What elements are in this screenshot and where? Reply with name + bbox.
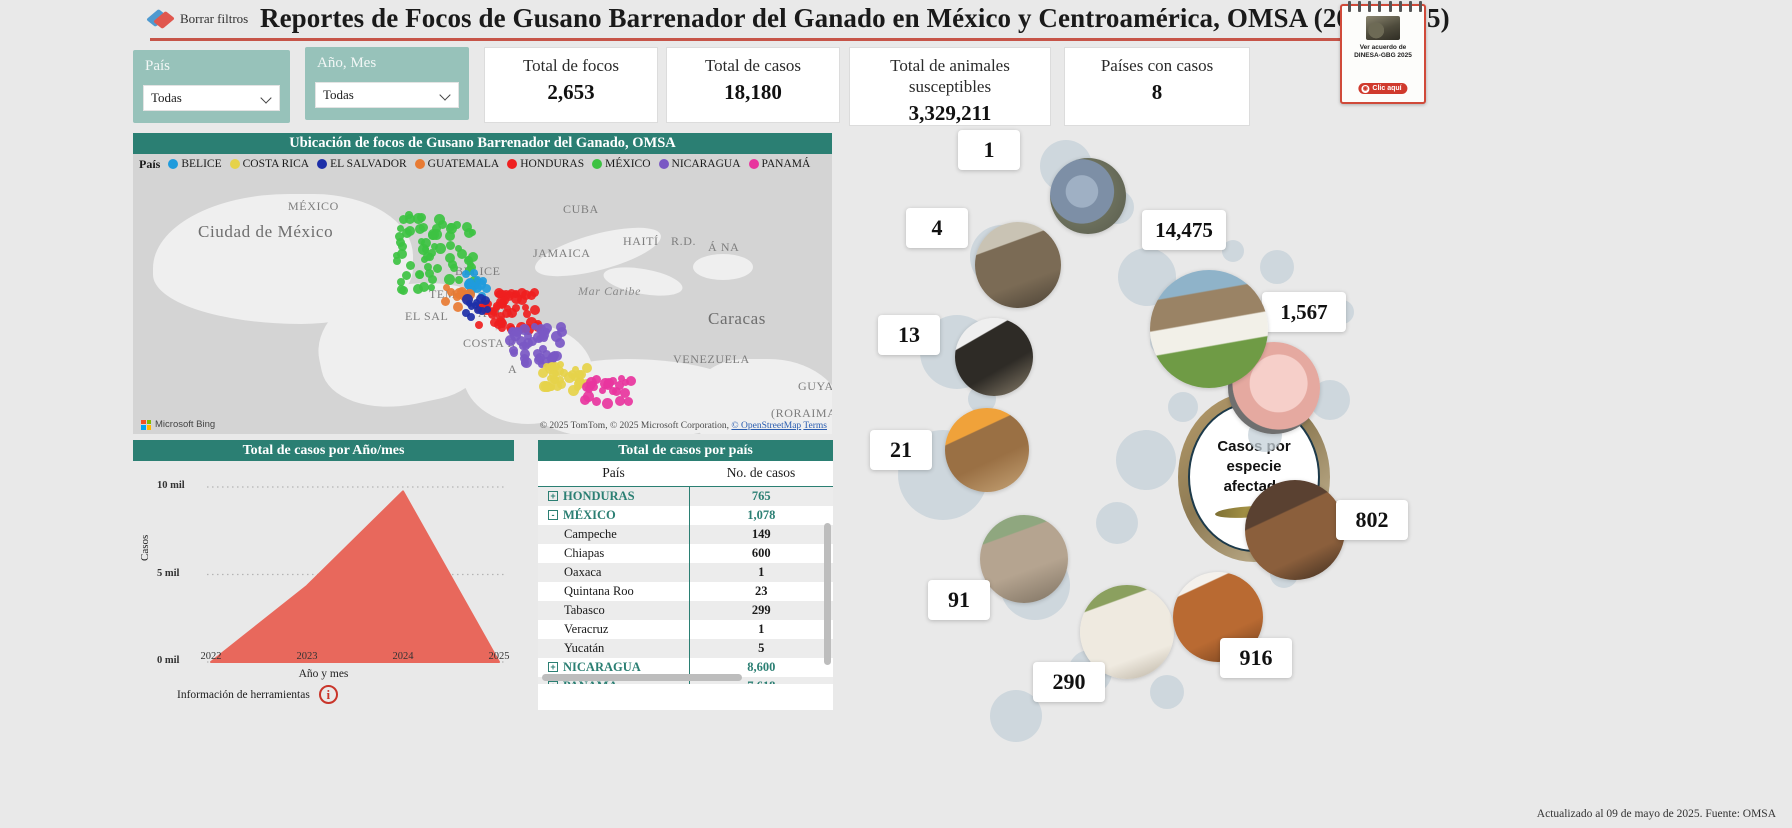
decorative-bubble <box>1150 675 1184 709</box>
map-place-label: MÉXICO <box>288 199 339 214</box>
chart-x-tick-label: 2024 <box>393 651 414 662</box>
legend-color-dot <box>230 159 240 169</box>
speaker-icon: ◉ <box>1361 85 1369 93</box>
row-expander-icon[interactable]: + <box>548 681 558 684</box>
table-row[interactable]: Veracruz1 <box>538 620 833 639</box>
openstreetmap-link[interactable]: © OpenStreetMap <box>731 421 801 431</box>
map-legend-item-honduras[interactable]: HONDURAS <box>507 158 584 170</box>
kpi-card-total-casos: Total de casos 18,180 <box>666 47 840 123</box>
species-value-callout[interactable]: 916 <box>1220 638 1292 678</box>
map-legend-title: País <box>139 157 160 172</box>
map-outbreak-point[interactable] <box>441 297 450 306</box>
species-photo-goat[interactable] <box>980 515 1068 603</box>
kpi-card-total-focos: Total de focos 2,653 <box>484 47 658 123</box>
legend-color-dot <box>659 159 669 169</box>
map-outbreak-point[interactable] <box>423 252 432 261</box>
cases-by-country-table: País No. de casos +HONDURAS765-MÉXICO1,0… <box>538 461 833 684</box>
kpi-value: 3,329,211 <box>850 101 1050 126</box>
map-place-label: Mar Caribe <box>578 284 641 299</box>
map-attribution: © 2025 TomTom, © 2025 Microsoft Corporat… <box>540 421 827 431</box>
chart-x-tick-label: 2025 <box>489 651 510 662</box>
legend-label: GUATEMALA <box>428 158 500 170</box>
map-legend: País BELICECOSTA RICAEL SALVADORGUATEMAL… <box>133 154 832 174</box>
species-value-callout[interactable]: 1,567 <box>1262 292 1346 332</box>
bing-logo-label: Microsoft Bing <box>155 419 215 430</box>
kpi-value: 2,653 <box>485 80 657 105</box>
legend-color-dot <box>317 159 327 169</box>
chart-x-tick-label: 2023 <box>297 651 318 662</box>
clear-filters-label: Borrar filtros <box>180 11 248 27</box>
decorative-bubble <box>1168 392 1198 422</box>
species-value-callout[interactable]: 14,475 <box>1142 210 1226 250</box>
title-divider <box>150 38 1415 41</box>
column-header-casos: No. de casos <box>689 461 833 487</box>
map-place-label: A <box>508 362 517 377</box>
table-cell-pais: Tabasco <box>538 601 689 620</box>
filter-card-pais: País Todas <box>133 50 290 123</box>
map-outbreak-point[interactable] <box>446 241 455 250</box>
map-outbreak-point[interactable] <box>530 305 540 315</box>
table-vertical-scrollbar[interactable] <box>824 523 831 665</box>
landmass-shape <box>693 254 753 280</box>
species-value-callout[interactable]: 21 <box>870 430 932 470</box>
map-outbreak-point[interactable] <box>512 304 520 312</box>
table-horizontal-scrollbar[interactable] <box>542 674 742 681</box>
terms-link[interactable]: Terms <box>803 421 827 431</box>
legend-label: MÉXICO <box>605 158 650 170</box>
table-cell-pais: Oaxaca <box>538 563 689 582</box>
map-place-label: GUYAN <box>798 379 832 394</box>
map-place-label: Á NA <box>708 240 739 255</box>
legend-color-dot <box>507 159 517 169</box>
table-cell-pais: Yucatán <box>538 639 689 658</box>
legend-label: COSTA RICA <box>243 158 310 170</box>
map-legend-item-el-salvador[interactable]: EL SALVADOR <box>317 158 407 170</box>
map-place-label: CUBA <box>563 202 599 217</box>
legend-color-dot <box>592 159 602 169</box>
table-row[interactable]: Quintana Roo23 <box>538 582 833 601</box>
species-radial-visual: Casos por especie afectada 1413219129091… <box>850 130 1780 820</box>
legend-label: EL SALVADOR <box>330 158 407 170</box>
map-outbreak-point[interactable] <box>406 261 415 270</box>
chart-y-tick-label: 5 mil <box>157 568 514 579</box>
footer-note: Actualizado al 09 de mayo de 2025. Fuent… <box>1537 808 1776 820</box>
table-row[interactable]: Chiapas600 <box>538 544 833 563</box>
map-legend-item-panamá[interactable]: PANAMÁ <box>749 158 811 170</box>
table-scroll-region[interactable]: País No. de casos +HONDURAS765-MÉXICO1,0… <box>538 461 833 684</box>
species-photo-bird[interactable] <box>1050 158 1126 234</box>
map-outbreak-point[interactable] <box>474 276 481 283</box>
table-cell-pais: Quintana Roo <box>538 582 689 601</box>
map-outbreak-point[interactable] <box>539 381 550 392</box>
map-legend-item-guatemala[interactable]: GUATEMALA <box>415 158 500 170</box>
species-photo-horse[interactable] <box>1245 480 1345 580</box>
species-value-callout[interactable]: 290 <box>1033 662 1105 702</box>
map-outbreak-point[interactable] <box>496 312 505 321</box>
map-outbreak-point[interactable] <box>446 223 457 234</box>
legend-color-dot <box>415 159 425 169</box>
table-cell-casos: 23 <box>689 582 833 601</box>
map-canvas[interactable]: Microsoft Bing © 2025 TomTom, © 2025 Mic… <box>133 174 832 434</box>
map-outbreak-point[interactable] <box>512 327 522 337</box>
table-body: +HONDURAS765-MÉXICO1,078Campeche149Chiap… <box>538 487 833 685</box>
map-legend-item-belice[interactable]: BELICE <box>168 158 221 170</box>
table-panel: Total de casos por país País No. de caso… <box>538 440 833 710</box>
table-row[interactable]: +HONDURAS765 <box>538 487 833 507</box>
notepad-caption-line1: Ver acuerdo de <box>1360 44 1407 51</box>
map-legend-item-nicaragua[interactable]: NICARAGUA <box>659 158 741 170</box>
map-outbreak-point[interactable] <box>523 310 531 318</box>
kpi-value: 18,180 <box>667 80 839 105</box>
map-place-label: JAMAICA <box>533 246 591 261</box>
table-cell-casos: 149 <box>689 525 833 544</box>
table-row[interactable]: Campeche149 <box>538 525 833 544</box>
map-outbreak-point[interactable] <box>626 376 636 386</box>
table-cell-pais: Chiapas <box>538 544 689 563</box>
table-row[interactable]: -MÉXICO1,078 <box>538 506 833 525</box>
info-icon[interactable]: i <box>319 685 338 704</box>
map-outbreak-point[interactable] <box>462 222 472 232</box>
filter-label-pais: País <box>145 58 170 75</box>
map-outbreak-point[interactable] <box>577 370 586 379</box>
legend-color-dot <box>749 159 759 169</box>
table-cell-casos: 1 <box>689 563 833 582</box>
map-legend-item-méxico[interactable]: MÉXICO <box>592 158 650 170</box>
legend-label: BELICE <box>181 158 221 170</box>
map-place-label: (RORAIMA) <box>771 406 832 421</box>
map-outbreak-point[interactable] <box>434 214 445 225</box>
map-outbreak-point[interactable] <box>457 249 467 259</box>
table-cell-pais: Campeche <box>538 525 689 544</box>
map-attribution-text: © 2025 TomTom, © 2025 Microsoft Corporat… <box>540 421 729 431</box>
species-value-callout[interactable]: 4 <box>906 208 968 248</box>
row-expander-icon[interactable]: + <box>548 491 558 501</box>
map-outbreak-point[interactable] <box>397 225 404 232</box>
map-outbreak-point[interactable] <box>435 243 446 254</box>
table-cell-pais: +HONDURAS <box>538 487 689 507</box>
map-outbreak-point[interactable] <box>405 226 415 236</box>
filter-label-anio-mes: Año, Mes <box>317 55 376 72</box>
map-place-label: R.D. <box>671 234 696 249</box>
chart-x-tick-label: 2022 <box>201 651 222 662</box>
table-cell-casos: 765 <box>689 487 833 507</box>
microsoft-bing-logo: Microsoft Bing <box>141 419 215 430</box>
table-cell-casos: 1,078 <box>689 506 833 525</box>
species-value-callout[interactable]: 91 <box>928 580 990 620</box>
map-outbreak-point[interactable] <box>468 252 478 262</box>
map-panel: Ubicación de focos de Gusano Barrenador … <box>133 133 832 434</box>
table-cell-pais: Veracruz <box>538 620 689 639</box>
map-outbreak-point[interactable] <box>428 231 437 240</box>
map-outbreak-point[interactable] <box>428 284 435 291</box>
map-outbreak-point[interactable] <box>455 276 463 284</box>
map-outbreak-point[interactable] <box>599 387 606 394</box>
chevron-down-icon <box>261 93 272 104</box>
notepad-rings-icon <box>1348 1 1422 11</box>
decorative-bubble <box>1096 502 1138 544</box>
map-outbreak-point[interactable] <box>405 211 413 219</box>
map-place-label: EL SAL <box>405 309 449 324</box>
filter-value-pais: Todas <box>151 90 261 106</box>
filter-value-anio-mes: Todas <box>323 87 440 103</box>
filter-dropdown-anio-mes[interactable]: Todas <box>315 82 459 108</box>
map-outbreak-point[interactable] <box>398 242 407 251</box>
map-title: Ubicación de focos de Gusano Barrenador … <box>133 133 832 154</box>
row-expander-icon[interactable]: + <box>548 662 558 672</box>
table-row[interactable]: Oaxaca1 <box>538 563 833 582</box>
decorative-bubble <box>1116 430 1176 490</box>
dashboard-canvas: Borrar filtros Reportes de Focos de Gusa… <box>0 0 1792 828</box>
tooltip-info-row: Información de herramientas i <box>177 685 338 704</box>
map-legend-item-costa-rica[interactable]: COSTA RICA <box>230 158 310 170</box>
species-photo-buffalo[interactable] <box>975 222 1061 308</box>
map-outbreak-point[interactable] <box>416 271 424 279</box>
table-row[interactable]: Yucatán5 <box>538 639 833 658</box>
legend-label: PANAMÁ <box>762 158 811 170</box>
species-value-callout[interactable]: 802 <box>1336 500 1408 540</box>
map-outbreak-point[interactable] <box>428 275 437 284</box>
chart-title: Total de casos por Año/mes <box>133 440 514 461</box>
row-expander-icon[interactable]: - <box>548 510 558 520</box>
species-photo-chicken[interactable] <box>955 318 1033 396</box>
species-photo-cat[interactable] <box>945 408 1029 492</box>
eraser-diamond-icon <box>150 8 172 30</box>
table-cell-pais: -MÉXICO <box>538 506 689 525</box>
column-header-pais: País <box>538 461 689 487</box>
table-cell-casos: 5 <box>689 639 833 658</box>
table-cell-casos: 299 <box>689 601 833 620</box>
legend-color-dot <box>168 159 178 169</box>
species-value-callout[interactable]: 1 <box>958 130 1020 170</box>
kpi-title: Total de casos <box>667 48 839 76</box>
dashboard-header: Borrar filtros Reportes de Focos de Gusa… <box>0 0 1792 40</box>
tooltip-label: Información de herramientas <box>177 689 310 701</box>
map-outbreak-point[interactable] <box>538 368 548 378</box>
table-title: Total de casos por país <box>538 440 833 461</box>
page-title: Reportes de Focos de Gusano Barrenador d… <box>260 0 1320 36</box>
notepad-click-here-button[interactable]: ◉ Clic aquí <box>1358 83 1407 94</box>
chart-plot-area[interactable]: Casos Año y mes Información de herramien… <box>133 461 514 700</box>
kpi-title: Total de animales susceptibles <box>850 48 1050 97</box>
map-outbreak-point[interactable] <box>433 264 442 273</box>
map-place-label: Caracas <box>708 309 766 329</box>
kpi-title: Países con casos <box>1065 48 1249 76</box>
map-outbreak-point[interactable] <box>475 321 483 329</box>
map-outbreak-point[interactable] <box>417 213 426 222</box>
map-outbreak-point[interactable] <box>555 338 565 348</box>
kpi-value: 8 <box>1065 80 1249 105</box>
map-place-label: HAITÍ <box>623 234 659 249</box>
kpi-title: Total de focos <box>485 48 657 76</box>
table-header-row: País No. de casos <box>538 461 833 487</box>
legend-label: NICARAGUA <box>672 158 741 170</box>
map-outbreak-point[interactable] <box>419 223 428 232</box>
map-place-label: VENEZUELA <box>673 352 750 367</box>
notepad-thumbnail-image <box>1366 16 1400 40</box>
notepad-caption: Ver acuerdo de DINESA-GBG 2025 <box>1342 44 1424 60</box>
filter-card-anio-mes: Año, Mes Todas <box>305 47 469 120</box>
filter-dropdown-pais[interactable]: Todas <box>143 85 280 111</box>
map-outbreak-point[interactable] <box>520 349 530 359</box>
legend-label: HONDURAS <box>520 158 584 170</box>
map-place-label: Ciudad de México <box>198 222 333 242</box>
kpi-card-paises-con-casos: Países con casos 8 <box>1064 47 1250 126</box>
species-value-callout[interactable]: 13 <box>878 315 940 355</box>
chevron-down-icon <box>440 90 451 101</box>
map-outbreak-point[interactable] <box>445 253 455 263</box>
decorative-bubble <box>1260 250 1294 284</box>
notepad-caption-line2: DINESA-GBG 2025 <box>1354 52 1412 59</box>
map-outbreak-point[interactable] <box>533 349 542 358</box>
agreement-notepad-widget[interactable]: Ver acuerdo de DINESA-GBG 2025 ◉ Clic aq… <box>1340 4 1426 104</box>
species-photo-cow[interactable] <box>1150 270 1268 388</box>
table-cell-casos: 1 <box>689 620 833 639</box>
map-outbreak-point[interactable] <box>602 398 613 409</box>
center-line-2: especie <box>1226 457 1281 477</box>
table-cell-casos: 600 <box>689 544 833 563</box>
clear-filters-button[interactable]: Borrar filtros <box>150 8 248 30</box>
table-row[interactable]: Tabasco299 <box>538 601 833 620</box>
kpi-card-total-animales-susceptibles: Total de animales susceptibles 3,329,211 <box>849 47 1051 126</box>
chart-y-tick-label: 10 mil <box>157 480 514 491</box>
map-outbreak-point[interactable] <box>462 270 470 278</box>
notepad-button-label: Clic aquí <box>1372 85 1401 92</box>
area-chart-panel: Total de casos por Año/mes Casos Año y m… <box>133 440 514 700</box>
